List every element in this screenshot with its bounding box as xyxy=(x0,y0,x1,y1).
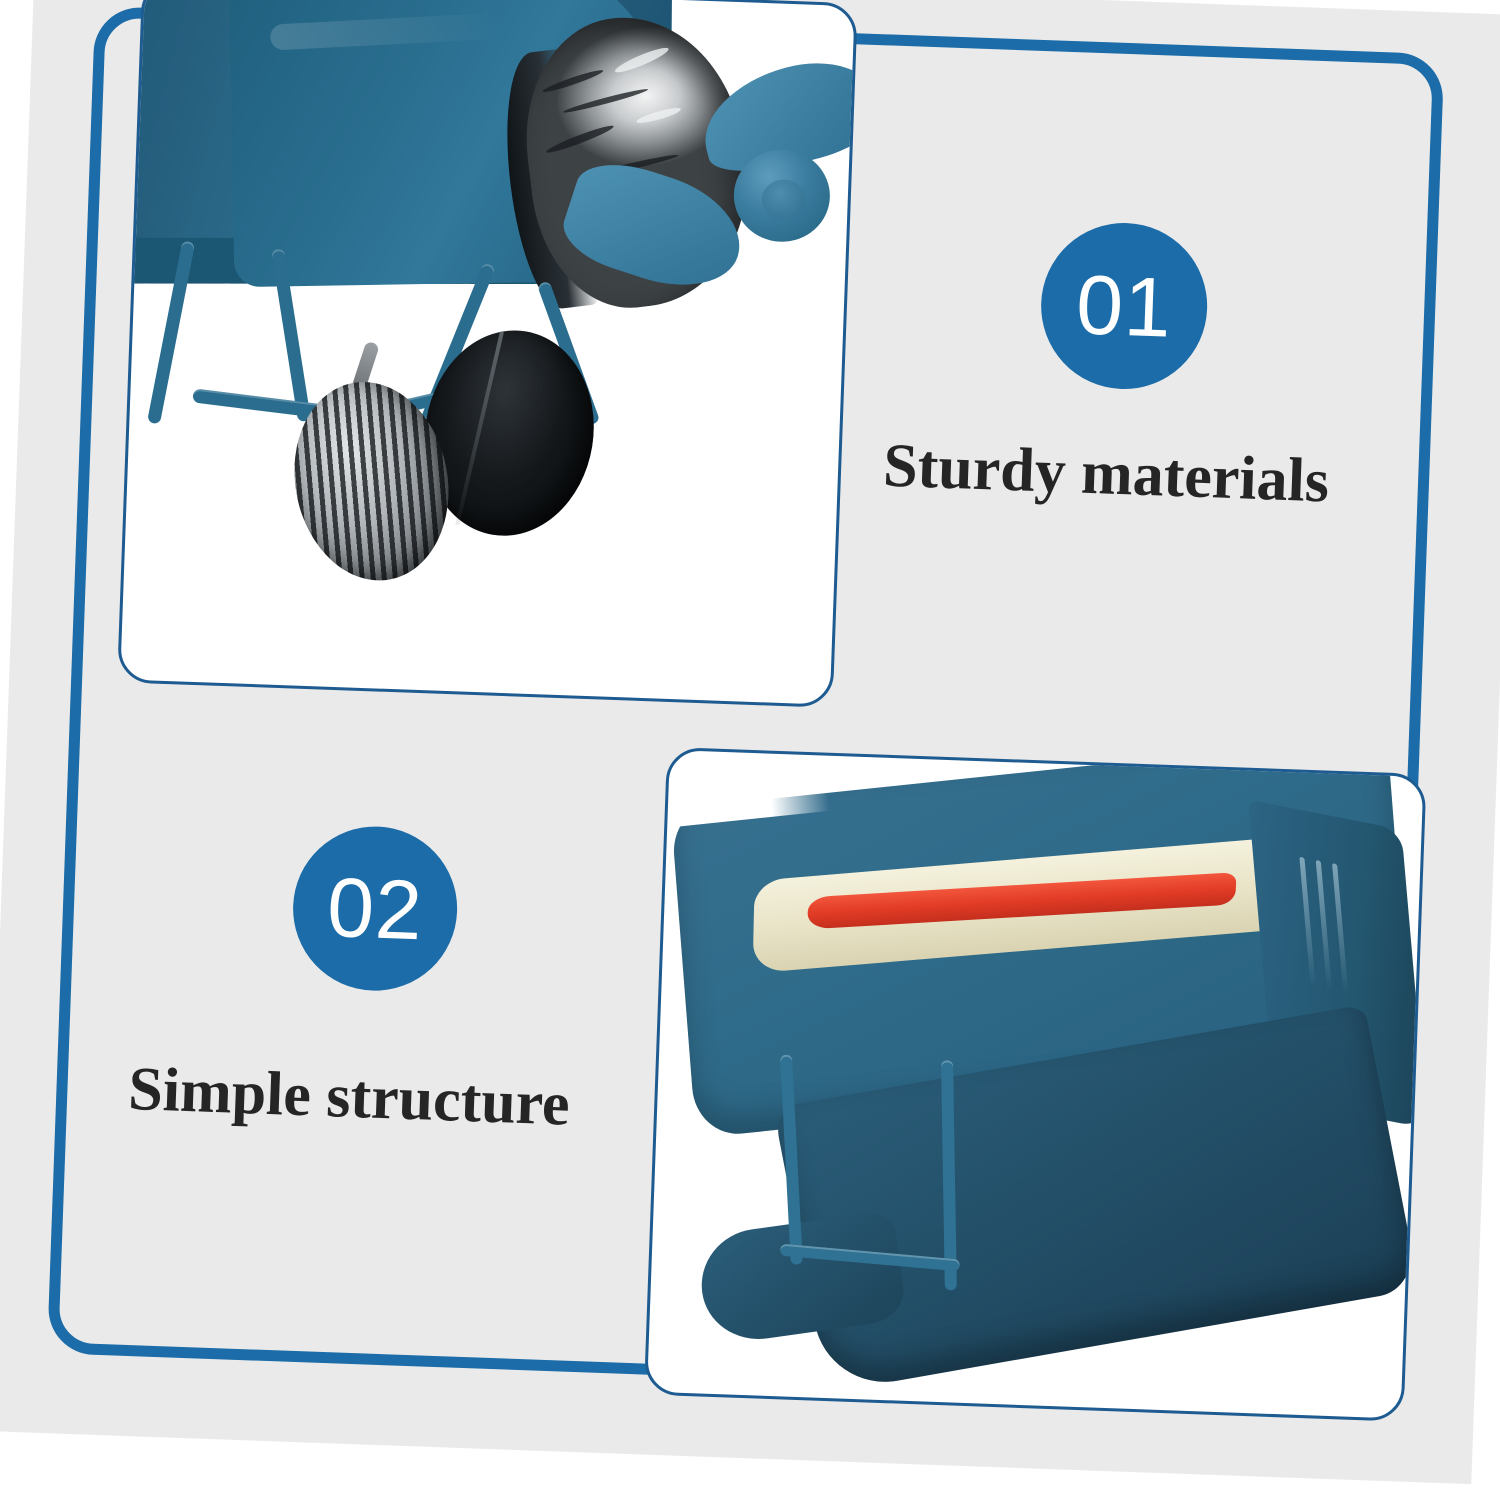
feature-photo-card-02 xyxy=(644,747,1427,1422)
airplane-wings-illustration xyxy=(647,750,1423,1419)
propeller-hub xyxy=(732,148,831,243)
infographic-canvas: 01 Sturdy materials 02 Simple structure xyxy=(0,0,1500,1500)
feature-photo-card-01 xyxy=(117,0,858,708)
rotated-panel: 01 Sturdy materials 02 Simple structure xyxy=(0,0,1500,1484)
airplane-nose-illustration xyxy=(120,0,855,705)
